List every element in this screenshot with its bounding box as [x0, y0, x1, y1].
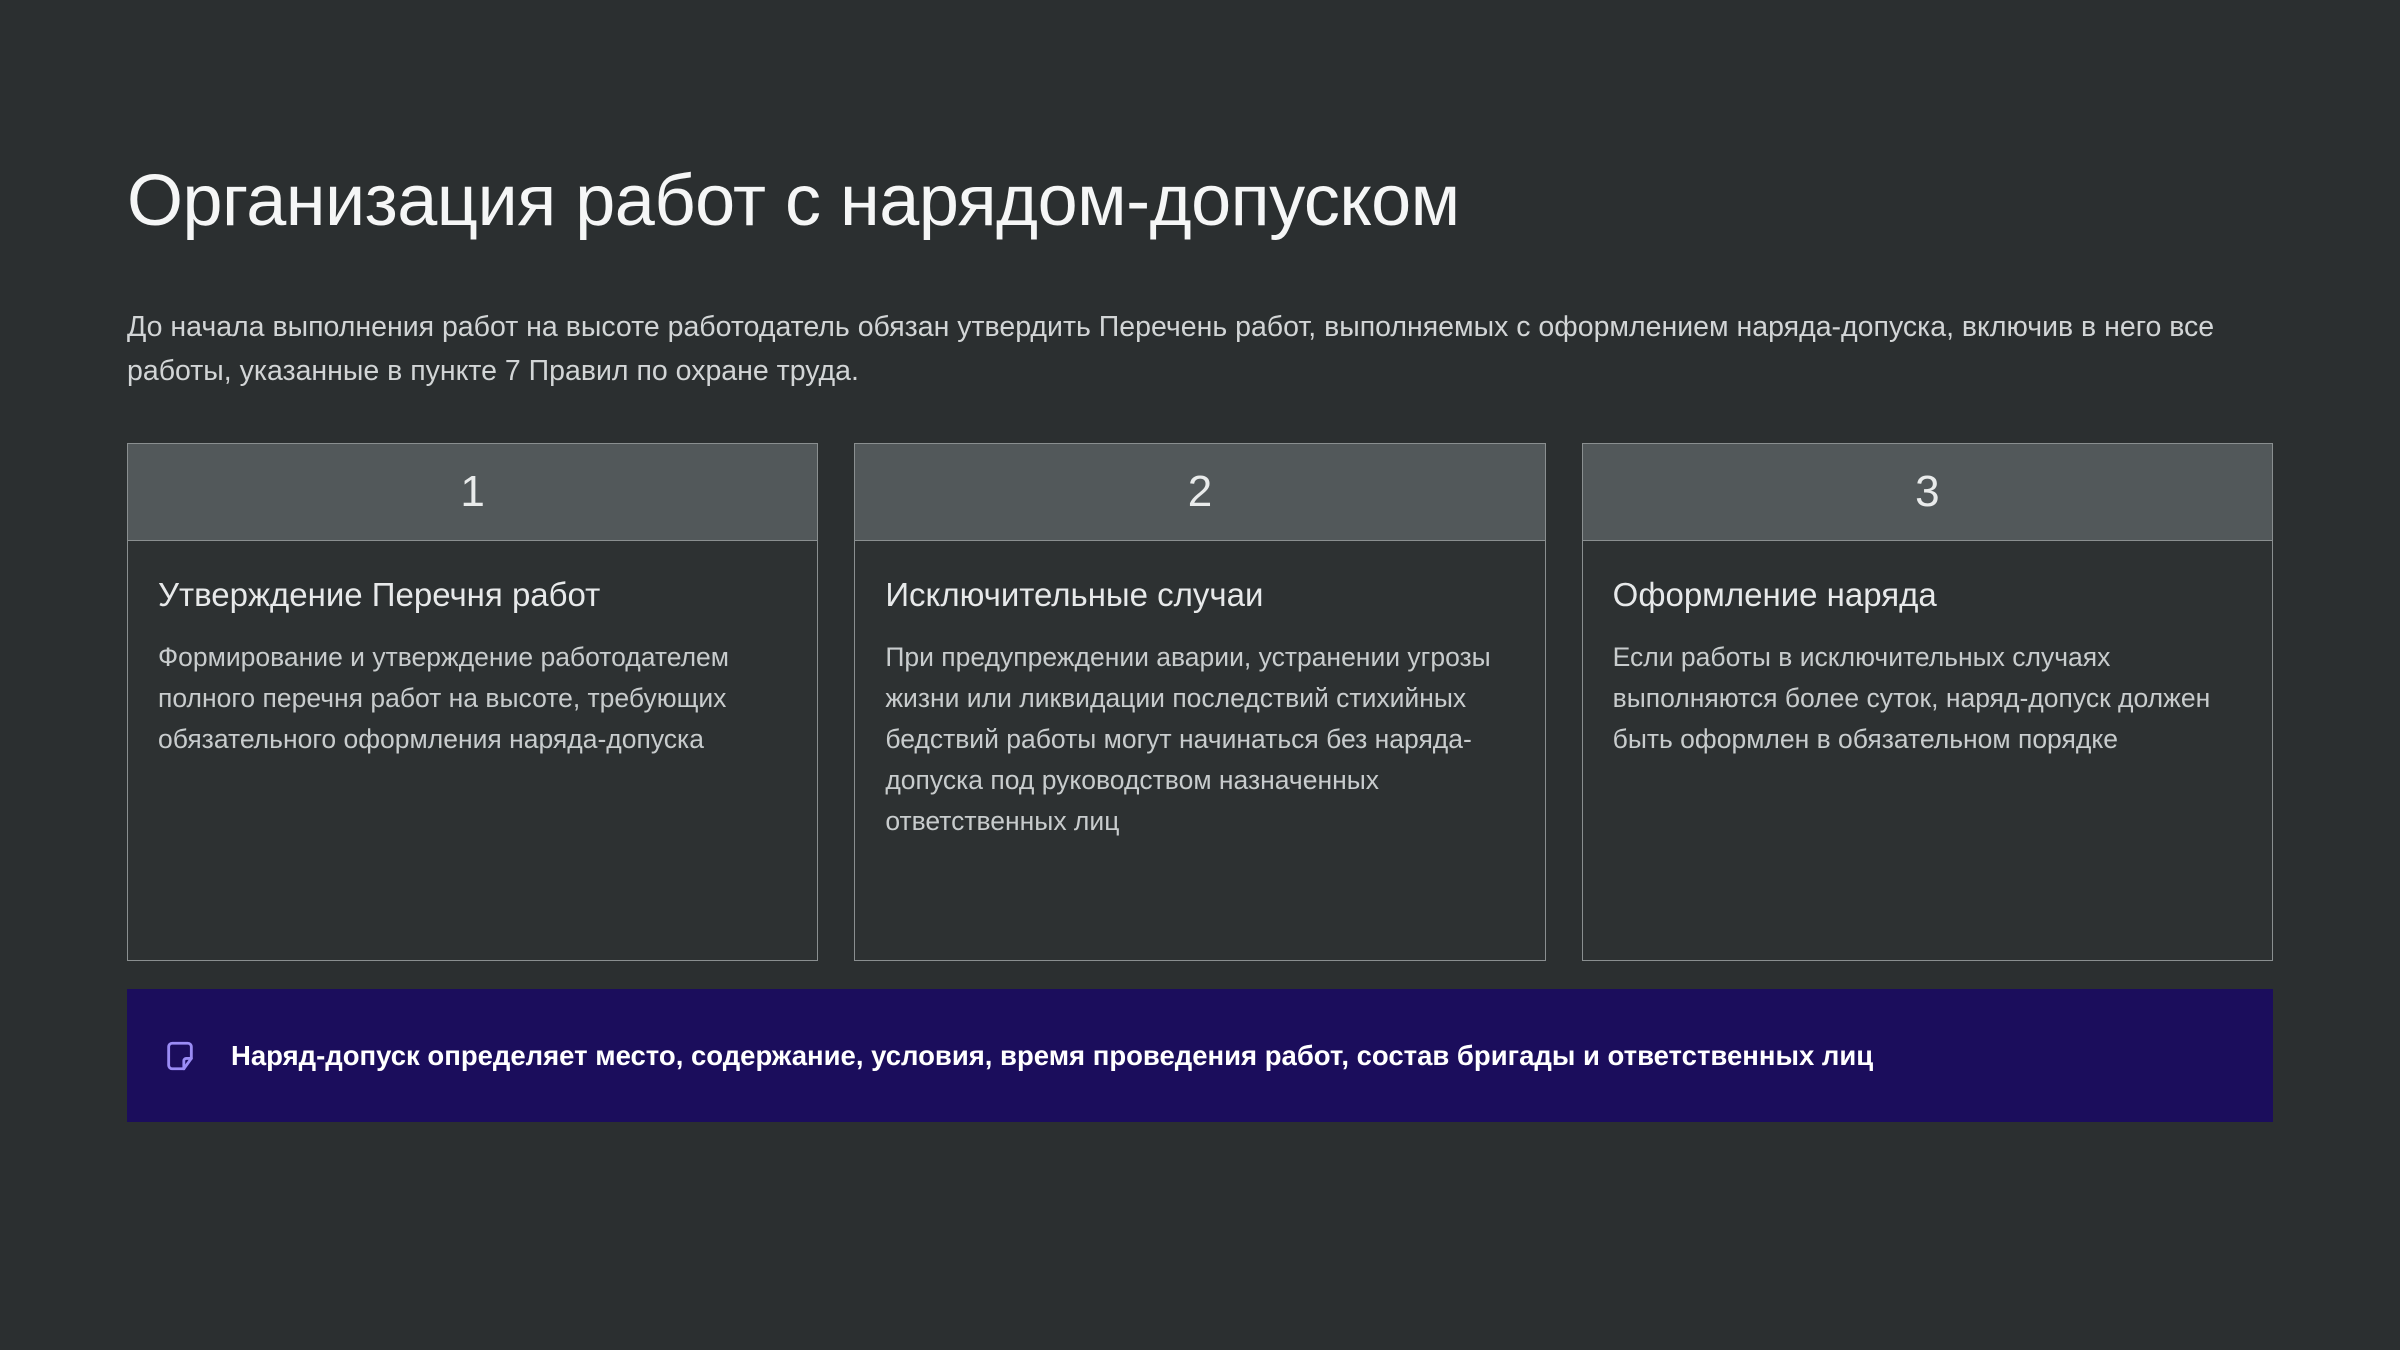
- card-1: 1 Утверждение Перечня работ Формирование…: [127, 443, 818, 961]
- card-1-number: 1: [460, 470, 484, 514]
- card-2-body: Исключительные случаи При предупреждении…: [855, 541, 1544, 842]
- note-banner-text: Наряд-допуск определяет место, содержани…: [231, 1038, 1873, 1074]
- card-1-text: Формирование и утверждение работодателем…: [158, 615, 787, 760]
- card-2-text: При предупреждении аварии, устранении уг…: [885, 615, 1514, 842]
- cards-row: 1 Утверждение Перечня работ Формирование…: [127, 443, 2273, 961]
- card-3-body: Оформление наряда Если работы в исключит…: [1583, 541, 2272, 760]
- note-banner: Наряд-допуск определяет место, содержани…: [127, 989, 2273, 1122]
- slide-root: Организация работ с нарядом-допуском До …: [0, 0, 2400, 1350]
- card-2: 2 Исключительные случаи При предупрежден…: [854, 443, 1545, 961]
- card-1-title: Утверждение Перечня работ: [158, 575, 787, 615]
- card-2-number: 2: [1188, 470, 1212, 514]
- page-title: Организация работ с нарядом-допуском: [127, 0, 2273, 243]
- card-2-title: Исключительные случаи: [885, 575, 1514, 615]
- card-1-header: 1: [128, 444, 817, 541]
- card-1-body: Утверждение Перечня работ Формирование и…: [128, 541, 817, 760]
- card-3-header: 3: [1583, 444, 2272, 541]
- card-3-number: 3: [1915, 470, 1939, 514]
- card-3-title: Оформление наряда: [1613, 575, 2242, 615]
- intro-paragraph: До начала выполнения работ на высоте раб…: [127, 243, 2273, 393]
- card-3: 3 Оформление наряда Если работы в исключ…: [1582, 443, 2273, 961]
- card-2-header: 2: [855, 444, 1544, 541]
- sticky-note-icon: [163, 1039, 197, 1073]
- card-3-text: Если работы в исключительных случаях вып…: [1613, 615, 2242, 760]
